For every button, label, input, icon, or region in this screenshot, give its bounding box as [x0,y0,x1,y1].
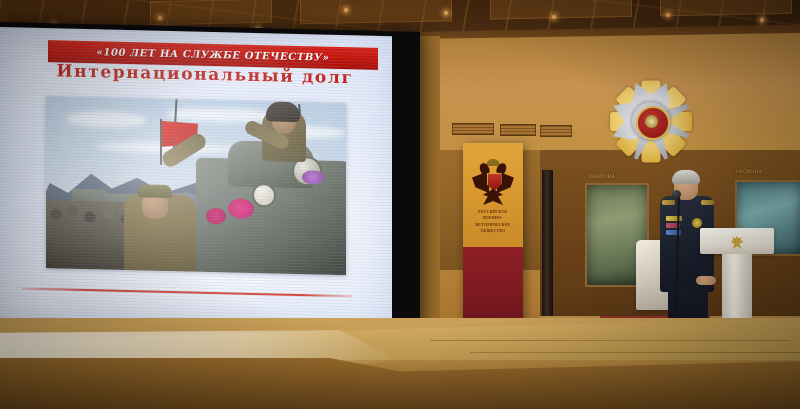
photo-flowers [206,208,226,224]
stage-seam [430,340,790,341]
photo-headlight [252,183,276,208]
speaker-shoulder-board [701,200,714,205]
rollup-banner-russian-military-historical-society: РОССИЙСКОЕ ВОЕННО-ИСТОРИЧЕСКОЕ ОБЩЕСТВО [463,143,523,328]
banner-text-block: РОССИЙСКОЕ ВОЕННО-ИСТОРИЧЕСКОЕ ОБЩЕСТВО [466,209,520,234]
wall-display-caption: ОБОРОНА [589,175,616,180]
photo-tank-helmet [266,101,300,122]
slide-divider-rule [22,288,352,297]
speaker-hair [672,170,700,184]
slide-banner-text: «100 ЛЕТ НА СЛУЖБЕ ОТЕЧЕСТВУ» [97,47,330,63]
ceiling-panel [150,0,272,25]
ceiling-light [666,13,670,17]
speaker-badge [692,218,702,228]
microphone-head [672,190,681,199]
photo-soldier-cap [138,184,172,198]
ceiling-light [444,11,448,15]
military-order-star-emblem [608,78,694,164]
ceiling-light [760,18,764,22]
wall-vent [452,123,494,135]
banner-bottom-panel [463,247,523,328]
presentation-slide[interactable]: «100 ЛЕТ НА СЛУЖБЕ ОТЕЧЕСТВУ» Интернацио… [0,27,392,332]
double-headed-eagle-emblem [472,159,514,205]
photo-flowers [228,198,254,219]
podium-top [700,228,774,254]
wall-display-caption-right: ОБОРОНА [736,170,763,175]
speaker-medal-bar [666,216,682,221]
ceiling-panel [490,0,632,20]
screen-support-post [542,170,553,330]
ceiling-light [552,15,556,19]
ceiling-panel [300,0,452,24]
banner-line-2: ВОЕННО-ИСТОРИЧЕСКОЕ [466,215,520,228]
ceiling-light [344,8,348,12]
wall-vent [500,124,536,136]
stage-seam [470,352,800,353]
speaker-shoulder-board [662,200,675,205]
podium-column [722,254,752,326]
banner-line-3: ОБЩЕСТВО [466,228,520,234]
screenshot-root: ОБОРОНА ОБОРОНА «100 ЛЕТ НА СЛУЖБЕ ОТЕЧЕ… [0,0,800,409]
wall-vent [540,125,572,137]
russian-coat-of-arms-crest [731,236,744,249]
photo-flowers [302,170,324,185]
slide-photo-afghanistan-withdrawal [46,96,346,275]
ceiling-light [158,16,162,20]
ceiling-panel [660,0,792,16]
